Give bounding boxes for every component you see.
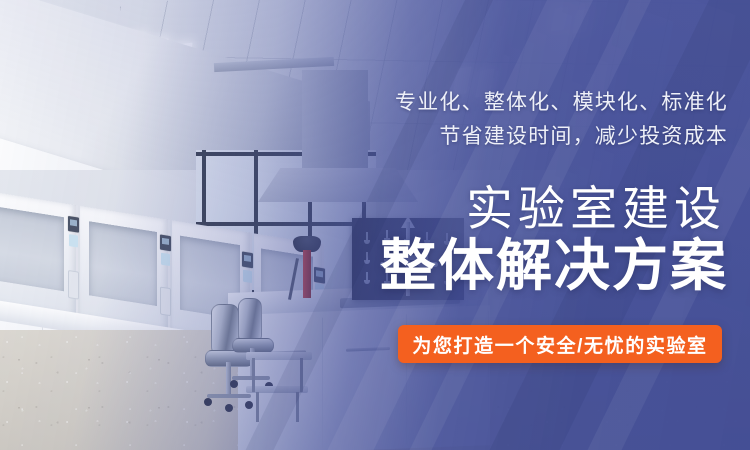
banner-root: 专业化、整体化、模块化、标准化 节省建设时间，减少投资成本 实验室建设 整体解决…	[0, 0, 750, 450]
headline-secondary: 整体解决方案	[380, 233, 728, 299]
cta-button[interactable]: 为您打造一个安全/无忧的实验室	[398, 325, 722, 363]
headline-primary: 实验室建设	[466, 182, 726, 236]
subtitle-line-2: 节省建设时间，减少投资成本	[308, 120, 728, 154]
cta-button-label: 为您打造一个安全/无忧的实验室	[412, 331, 707, 358]
subtitle-block: 专业化、整体化、模块化、标准化 节省建设时间，减少投资成本	[308, 86, 728, 154]
subtitle-line-1: 专业化、整体化、模块化、标准化	[308, 86, 728, 120]
